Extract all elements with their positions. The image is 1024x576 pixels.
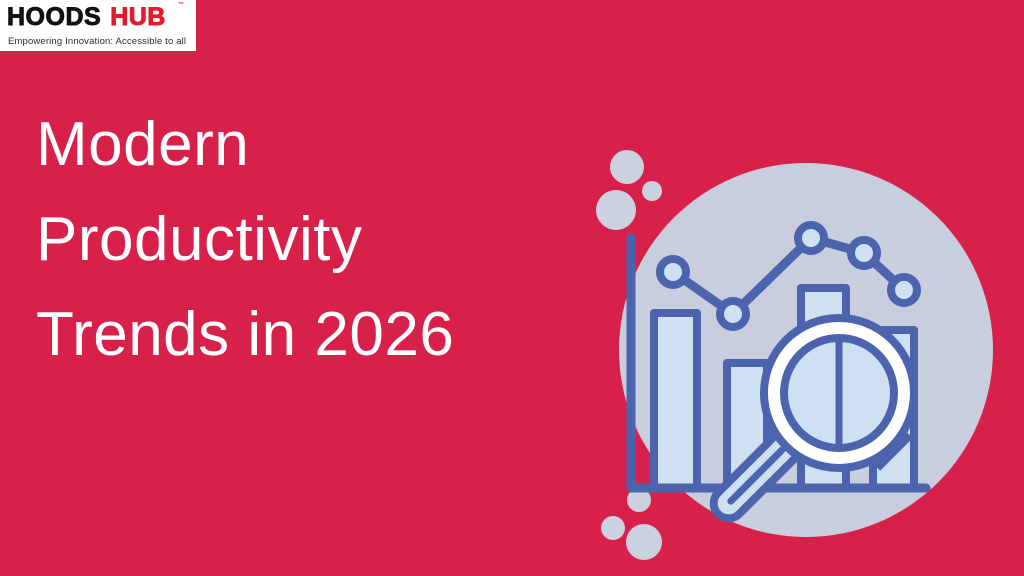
slide-canvas: HOODS HUB ™ Empowering Innovation: Acces… [0, 0, 1024, 576]
page-title-line-2: Productivity [36, 192, 556, 287]
trend-point-2 [720, 301, 746, 327]
trend-point-4 [851, 240, 877, 266]
bar-1 [654, 313, 697, 488]
decor-bottom-2-icon [601, 516, 625, 540]
logo-word-primary: HOODS [7, 5, 101, 30]
brand-logo-panel[interactable]: HOODS HUB ™ Empowering Innovation: Acces… [0, 0, 196, 51]
decor-top-3-icon [596, 190, 636, 230]
logo-wordmark: HOODS HUB [7, 4, 189, 31]
logo-word-secondary: HUB [110, 5, 166, 30]
logo-tagline: Empowering Innovation: Accessible to all [8, 36, 186, 47]
data-analysis-illustration [596, 150, 996, 560]
page-title-line-3: Trends in 2026 [36, 287, 556, 382]
trend-point-1 [660, 259, 686, 285]
page-title-line-1: Modern [36, 97, 556, 192]
decor-circles-top [596, 150, 662, 230]
decor-top-2-icon [642, 181, 662, 201]
trend-point-5 [891, 277, 917, 303]
decor-top-1-icon [610, 150, 644, 184]
trademark-icon: ™ [178, 2, 184, 8]
decor-bottom-3-icon [626, 524, 662, 560]
illustration-svg [596, 150, 996, 560]
trend-point-3 [798, 225, 824, 251]
decor-circles-bottom [601, 488, 662, 560]
page-title: Modern Productivity Trends in 2026 [36, 97, 556, 382]
